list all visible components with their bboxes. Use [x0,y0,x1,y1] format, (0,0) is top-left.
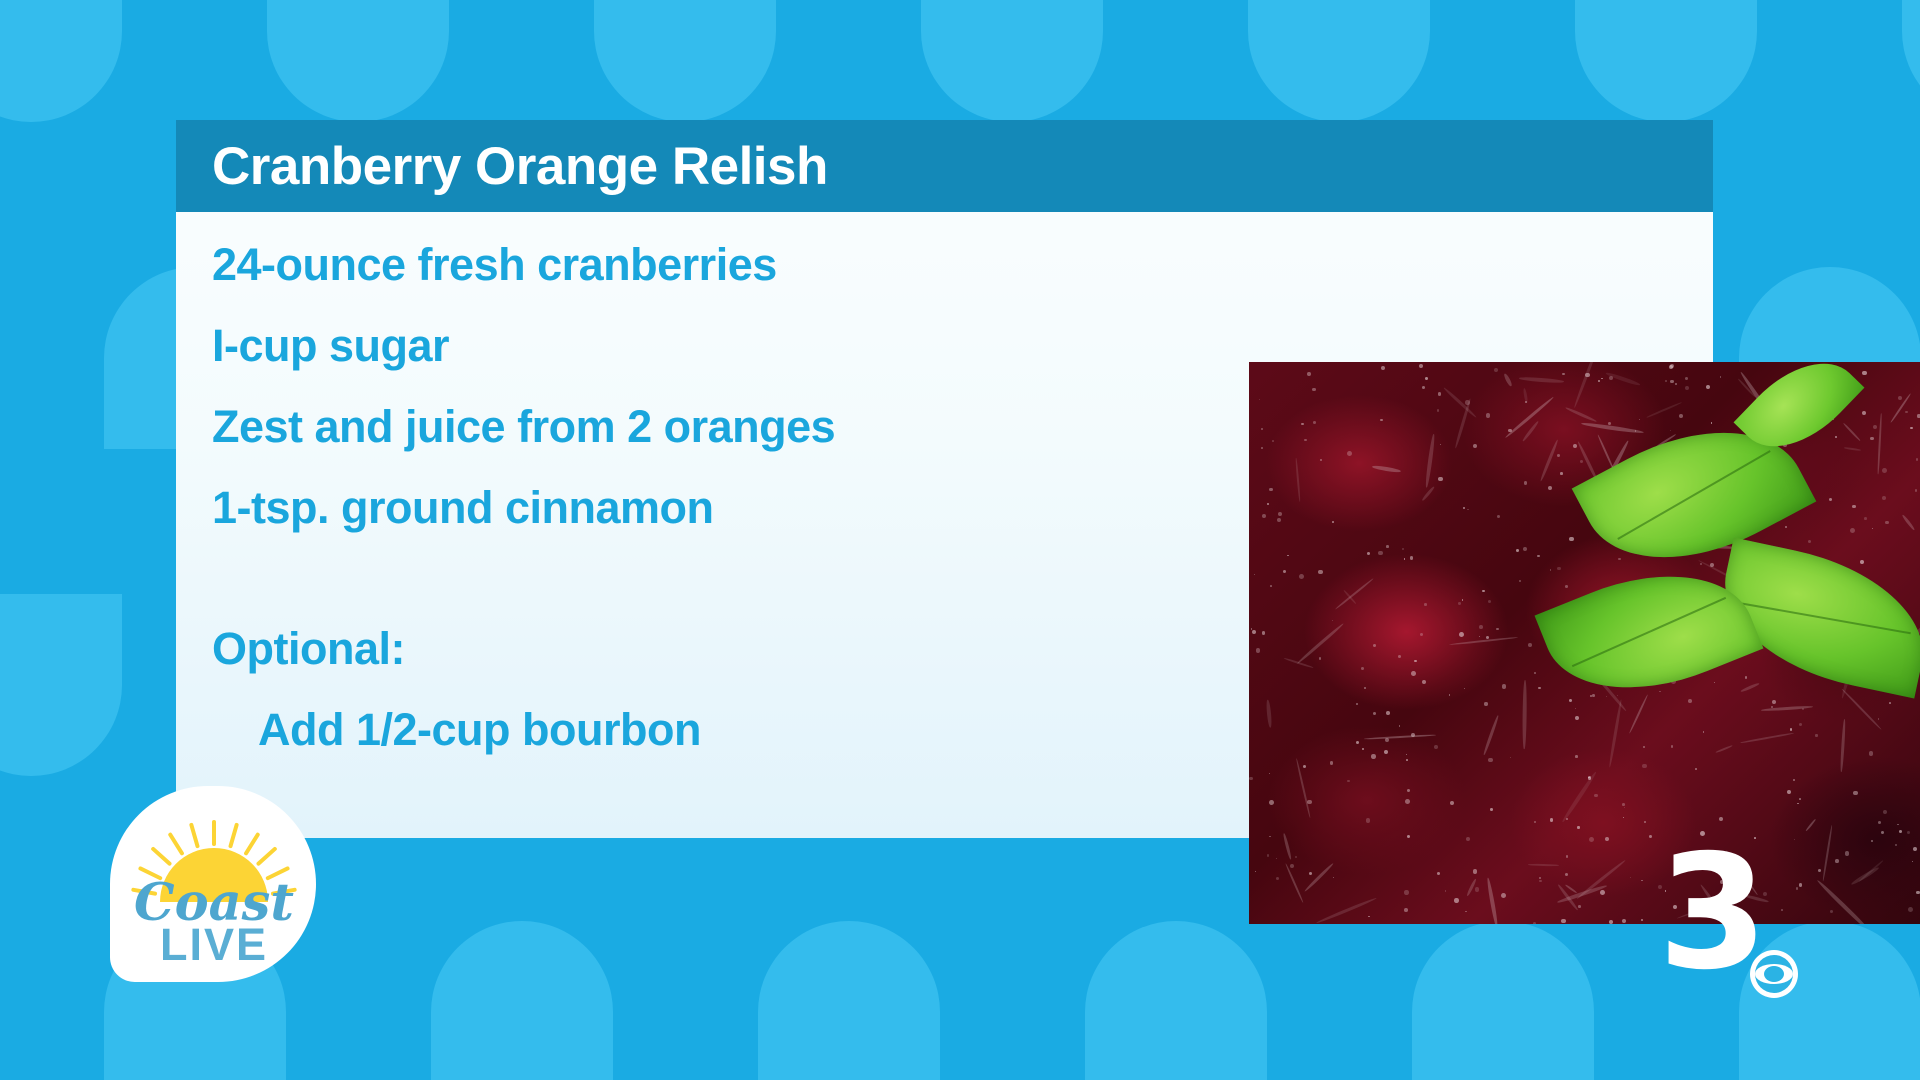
background-shape [594,0,776,122]
sun-ray [243,832,260,856]
photo-speck [1267,854,1269,856]
photo-speck [1845,851,1850,856]
photo-speck [1539,877,1540,878]
photo-speck [1908,907,1913,912]
photo-speck [1644,821,1646,823]
photo-speck [1332,521,1334,523]
photo-speck [1565,585,1568,588]
photo-speck [1548,486,1552,490]
photo-speck [1386,711,1390,715]
page-title: Cranberry Orange Relish [212,136,828,197]
photo-speck [1675,383,1677,385]
photo-speck [1261,428,1263,430]
photo-speck [1550,818,1553,821]
logo-block-word: LIVE [128,922,300,967]
list-item: 24-ounce fresh cranberries [212,224,1032,305]
photo-speck [1496,628,1498,630]
photo-speck [1528,643,1532,647]
background-shape [267,0,449,122]
photo-speck [1622,919,1626,923]
photo-speck [1454,898,1459,903]
background-shape [921,0,1103,122]
photo-speck [1434,745,1438,749]
cranberry-relish-photo [1249,362,1920,924]
photo-speck [1557,567,1560,570]
photo-speck [1366,818,1370,822]
photo-speck [1524,481,1527,484]
photo-speck [1883,810,1887,814]
background-shape [1248,0,1430,122]
photo-speck [1473,869,1477,873]
photo-speck [1889,702,1891,704]
leaf-vein [1617,450,1771,540]
photo-speck [1598,380,1600,382]
photo-speck [1488,600,1491,603]
photo-speck [1404,908,1408,912]
photo-speck [1272,440,1274,442]
sun-ray [228,823,239,849]
photo-speck [1458,602,1460,604]
photo-speck [1501,893,1506,898]
photo-speck [1617,695,1618,696]
photo-speck [1445,890,1446,891]
photo-speck [1299,574,1304,579]
photo-speck [1793,779,1795,781]
photo-speck [1494,368,1498,372]
recipe-title-bar: Cranberry Orange Relish [176,120,1713,212]
photo-speck [1594,794,1598,798]
photo-speck [1479,625,1483,629]
photo-speck [1808,540,1811,543]
photo-speck [1261,447,1263,449]
photo-speck [1772,700,1776,704]
photo-speck [1378,551,1383,556]
photo-speck [1490,808,1493,811]
photo-speck [1711,422,1713,424]
photo-speck [1380,419,1382,421]
photo-speck [1484,702,1487,705]
background-shape [1575,0,1757,122]
photo-speck [1592,694,1595,697]
optional-item: Add 1/2-cup bourbon [212,689,1032,770]
photo-speck [1589,837,1594,842]
broadcast-lower-third-slate: Cranberry Orange Relish 24-ounce fresh c… [0,0,1920,1080]
photo-speck [1703,731,1705,733]
photo-speck [1459,632,1464,637]
photo-speck [1622,803,1625,806]
photo-speck [1835,436,1837,438]
photo-speck [1562,373,1564,375]
photo-speck [1262,631,1265,634]
photo-speck [1386,545,1389,548]
photo-speck [1641,880,1643,882]
sun-ray [150,846,172,866]
photo-speck [1910,427,1913,430]
photo-speck [1706,385,1710,389]
photo-speck [1557,454,1560,457]
photo-speck [1404,890,1408,894]
photo-speck [1347,451,1352,456]
photo-speck [1313,421,1316,424]
photo-speck [1269,800,1274,805]
photo-speck [1533,922,1537,924]
photo-speck [1301,423,1303,425]
photo-streak [1522,680,1526,749]
photo-speck [1685,377,1688,380]
photo-speck [1373,644,1376,647]
list-item: 1-tsp. ground cinnamon [212,467,1032,548]
photo-speck [1565,873,1568,876]
photo-speck [1600,890,1605,895]
photo-speck [1864,517,1867,520]
photo-speck [1318,570,1323,575]
photo-speck [1643,746,1645,748]
photo-speck [1424,603,1427,606]
list-item: Zest and juice from 2 oranges [212,386,1032,467]
photo-speck [1482,590,1484,592]
photo-speck [1916,891,1920,895]
photo-speck [1785,526,1787,528]
background-shape [758,921,940,1080]
background-shape [0,0,122,122]
photo-speck [1569,537,1573,541]
recipe-card: Cranberry Orange Relish 24-ounce fresh c… [176,120,1713,838]
photo-speck [1510,757,1511,758]
photo-speck [1425,377,1428,380]
coast-live-logo: Coast LIVE [110,786,316,982]
photo-speck [1405,799,1410,804]
photo-speck [1307,372,1311,376]
photo-speck [1881,831,1884,834]
ingredient-list: 24-ounce fresh cranberries I-cup sugar Z… [212,224,1032,770]
sun-ray [212,820,216,846]
background-shape [431,921,613,1080]
photo-speck [1502,684,1506,688]
photo-speck [1437,872,1440,875]
photo-speck [1364,687,1366,689]
photo-speck [1320,459,1321,460]
background-shape [1412,921,1594,1080]
photo-speck [1641,919,1643,921]
photo-speck [1561,919,1566,924]
photo-speck [1467,509,1468,510]
photo-speck [1356,703,1358,705]
photo-speck [1665,380,1667,382]
photo-speck [1873,425,1877,429]
photo-speck [1538,687,1541,690]
leaf-vein [1737,602,1911,635]
photo-speck [1534,672,1536,674]
photo-speck [1577,826,1579,828]
photo-speck [1406,759,1408,761]
sun-ray [256,846,278,866]
leaf-vein [1572,597,1726,667]
photo-speck [1252,630,1256,634]
photo-speck [1249,777,1253,781]
photo-speck [1885,521,1888,524]
photo-speck [1815,734,1817,736]
optional-label: Optional: [212,608,1032,689]
photo-speck [1475,887,1479,891]
background-shape [1085,921,1267,1080]
list-item: I-cup sugar [212,305,1032,386]
photo-speck [1642,764,1646,768]
photo-speck [1256,648,1260,652]
photo-speck [1373,712,1376,715]
photo-speck [1539,880,1542,883]
photo-speck [1312,388,1315,391]
photo-speck [1251,628,1252,629]
photo-speck [1438,392,1442,396]
photo-speck [1411,671,1416,676]
photo-speck [1860,560,1864,564]
list-spacer [212,548,1032,608]
photo-speck [1371,754,1375,758]
photo-speck [1608,422,1611,425]
sun-ray [168,832,185,856]
photo-speck [1404,558,1406,560]
photo-speck [1685,386,1689,390]
cbs-eye-icon [1750,950,1798,998]
sun-ray [189,823,200,849]
photo-speck [1438,477,1443,482]
photo-speck [1259,399,1260,400]
photo-speck [1915,489,1917,491]
photo-speck [1560,472,1563,475]
photo-speck [1679,414,1683,418]
channel-bug: 3 [1658,858,1838,1008]
photo-speck [1537,555,1539,557]
photo-speck [1347,780,1349,782]
photo-speck [1799,723,1802,726]
photo-speck [1566,855,1568,857]
photo-speck [1869,751,1873,755]
background-shape [1902,0,1920,122]
photo-speck [1895,844,1896,845]
photo-speck [1618,558,1620,560]
cbs-eye-pupil [1764,966,1784,982]
photo-speck [1262,514,1266,518]
photo-speck [1720,376,1721,377]
photo-speck [1304,439,1306,441]
photo-speck [1624,807,1625,808]
photo-speck [1714,682,1715,683]
photo-speck [1270,585,1272,587]
background-shape [0,594,122,776]
photo-speck [1283,570,1286,573]
photo-speck [1575,755,1578,758]
